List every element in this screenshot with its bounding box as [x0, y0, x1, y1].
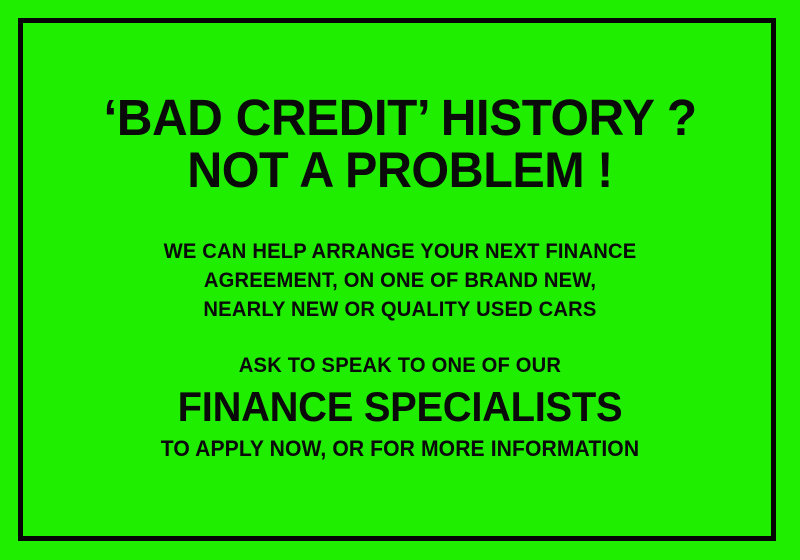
- poster-content: ‘BAD CREDIT’ HISTORY ? NOT A PROBLEM ! W…: [0, 0, 800, 560]
- headline-line-1: ‘BAD CREDIT’ HISTORY ?: [12, 92, 788, 144]
- body-line-1: WE CAN HELP ARRANGE YOUR NEXT FINANCE: [16, 237, 784, 266]
- headline-block: ‘BAD CREDIT’ HISTORY ? NOT A PROBLEM !: [0, 92, 800, 196]
- call-to-action-block: ASK TO SPEAK TO ONE OF OUR FINANCE SPECI…: [0, 352, 800, 464]
- cta-footer: TO APPLY NOW, OR FOR MORE INFORMATION: [16, 434, 784, 464]
- cta-headline: FINANCE SPECIALISTS: [20, 379, 780, 434]
- advert-poster: ‘BAD CREDIT’ HISTORY ? NOT A PROBLEM ! W…: [0, 0, 800, 560]
- body-copy-block: WE CAN HELP ARRANGE YOUR NEXT FINANCE AG…: [0, 237, 800, 324]
- body-line-2: AGREEMENT, ON ONE OF BRAND NEW,: [16, 266, 784, 295]
- headline-line-2: NOT A PROBLEM !: [12, 144, 788, 196]
- cta-lead-in: ASK TO SPEAK TO ONE OF OUR: [16, 352, 784, 379]
- body-line-3: NEARLY NEW OR QUALITY USED CARS: [16, 295, 784, 324]
